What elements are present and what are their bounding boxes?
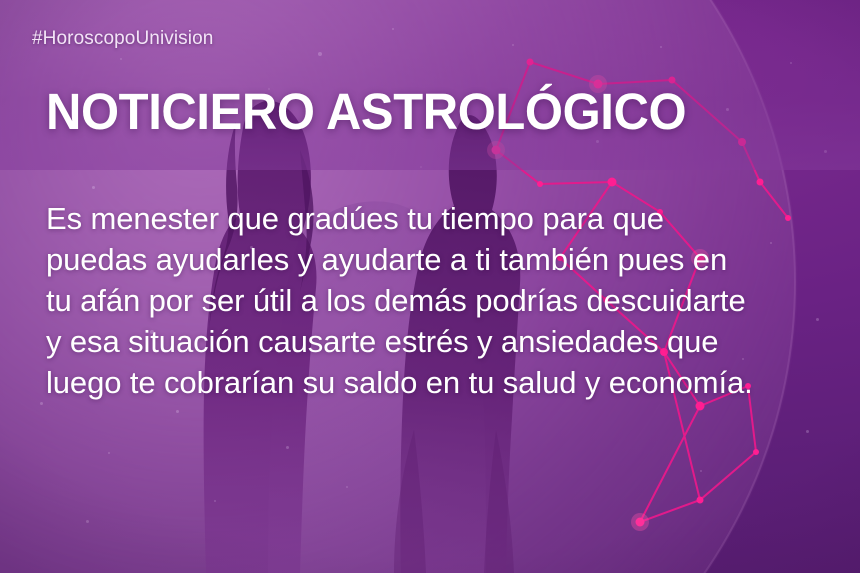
body-line: Es menester que gradúes tu tiempo para q… bbox=[46, 198, 836, 239]
body-line: luego te cobrarían su saldo en tu salud … bbox=[46, 362, 836, 403]
hashtag-label: #HoroscopoUnivision bbox=[32, 28, 213, 50]
body-line: tu afán por ser útil a los demás podrías… bbox=[46, 280, 836, 321]
body-line: puedas ayudarles y ayudarte a ti también… bbox=[46, 239, 836, 280]
body-line: y esa situación causarte estrés y ansied… bbox=[46, 321, 836, 362]
text-content: #HoroscopoUnivision NOTICIERO ASTROLÓGIC… bbox=[0, 0, 860, 573]
page-title: NOTICIERO ASTROLÓGICO bbox=[46, 86, 686, 137]
horoscope-card: #HoroscopoUnivision NOTICIERO ASTROLÓGIC… bbox=[0, 0, 860, 573]
horoscope-body: Es menester que gradúes tu tiempo para q… bbox=[46, 198, 836, 403]
